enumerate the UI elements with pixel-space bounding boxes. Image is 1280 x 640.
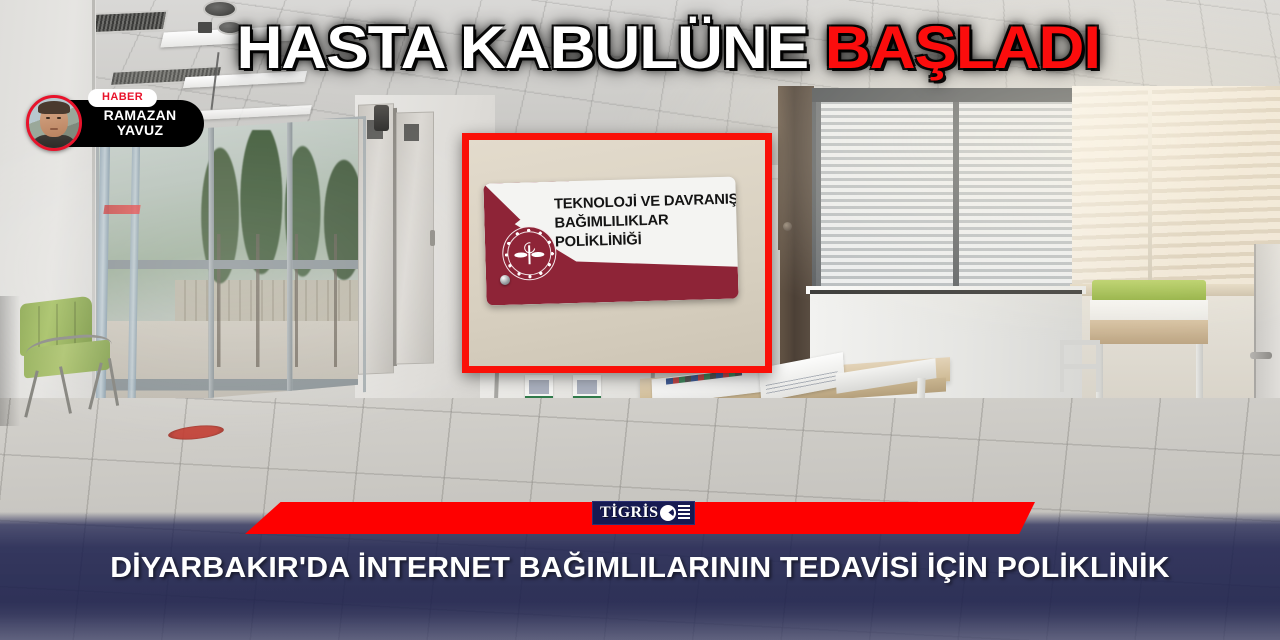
headline-accent: BAŞLADI: [825, 14, 1100, 81]
exam-bench-cushion: [1092, 280, 1206, 302]
tigris-filmstrip-icon: [678, 505, 690, 521]
wood-column-knob: [783, 222, 792, 231]
reporter-name-line2: YAVUZ: [94, 123, 186, 138]
step-stool: [1060, 340, 1100, 392]
tigris-logo[interactable]: TİGRİS: [592, 501, 695, 525]
inset-clinic-sign-photo[interactable]: TEKNOLOJİ VE DAVRANIŞSAL BAĞIMLILIKLAR P…: [462, 133, 772, 373]
headline-primary: HASTA KABULÜNE: [236, 14, 808, 81]
corridor-door: [396, 111, 434, 364]
tigris-globe-icon: [660, 505, 676, 521]
clinic-sign-text: TEKNOLOJİ VE DAVRANIŞSAL BAĞIMLILIKLAR P…: [554, 191, 735, 253]
waiting-chairs: [6, 300, 124, 420]
wall-phone: [374, 105, 389, 131]
avatar-mouth: [50, 128, 58, 130]
caption-text: DİYARBAKIR'DA İNTERNET BAĞIMLILARININ TE…: [0, 552, 1280, 584]
tigris-wordmark: TİGRİS: [600, 504, 658, 521]
avatar-eye: [57, 117, 61, 119]
window-mullion: [209, 118, 214, 408]
louvre-window: [812, 88, 1100, 308]
door-sign: [404, 124, 419, 141]
louvre-header: [812, 88, 1092, 102]
outdoor-red-sign: [103, 205, 140, 214]
blind-cord: [1148, 86, 1152, 286]
avatar-eye: [46, 117, 50, 119]
exam-bench-body: [1090, 300, 1208, 322]
reporter-name-line1: RAMAZAN: [94, 108, 186, 123]
exam-bench-leg: [1196, 344, 1203, 400]
avatar-hair: [38, 101, 70, 114]
reporter-name-plate: RAMAZAN YAVUZ: [64, 100, 204, 147]
news-photo-card: HASTA KABULÜNE BAŞLADI RAMAZAN YAVUZ HAB…: [0, 0, 1280, 640]
ceiling-dome-fixture: [205, 2, 235, 16]
louvre-divider: [953, 96, 959, 300]
window-mullion: [287, 118, 292, 408]
far-right-door-handle: [1250, 352, 1272, 359]
chair-leg: [108, 358, 119, 406]
avatar: [26, 95, 82, 151]
door-handle: [430, 230, 435, 246]
headline: HASTA KABULÜNE BAŞLADI: [0, 18, 1100, 78]
window-sunlight: [1072, 86, 1280, 286]
reporter-byline[interactable]: RAMAZAN YAVUZ HABER: [26, 95, 204, 151]
exam-bench-drawer: [1090, 320, 1208, 344]
reporter-pill: RAMAZAN YAVUZ HABER: [64, 100, 204, 147]
corridor-door: [358, 103, 394, 375]
avatar-torso: [31, 135, 77, 151]
clinic-sign-plate: TEKNOLOJİ VE DAVRANIŞSAL BAĞIMLILIKLAR P…: [483, 177, 738, 306]
reporter-tag-label: HABER: [88, 89, 157, 107]
